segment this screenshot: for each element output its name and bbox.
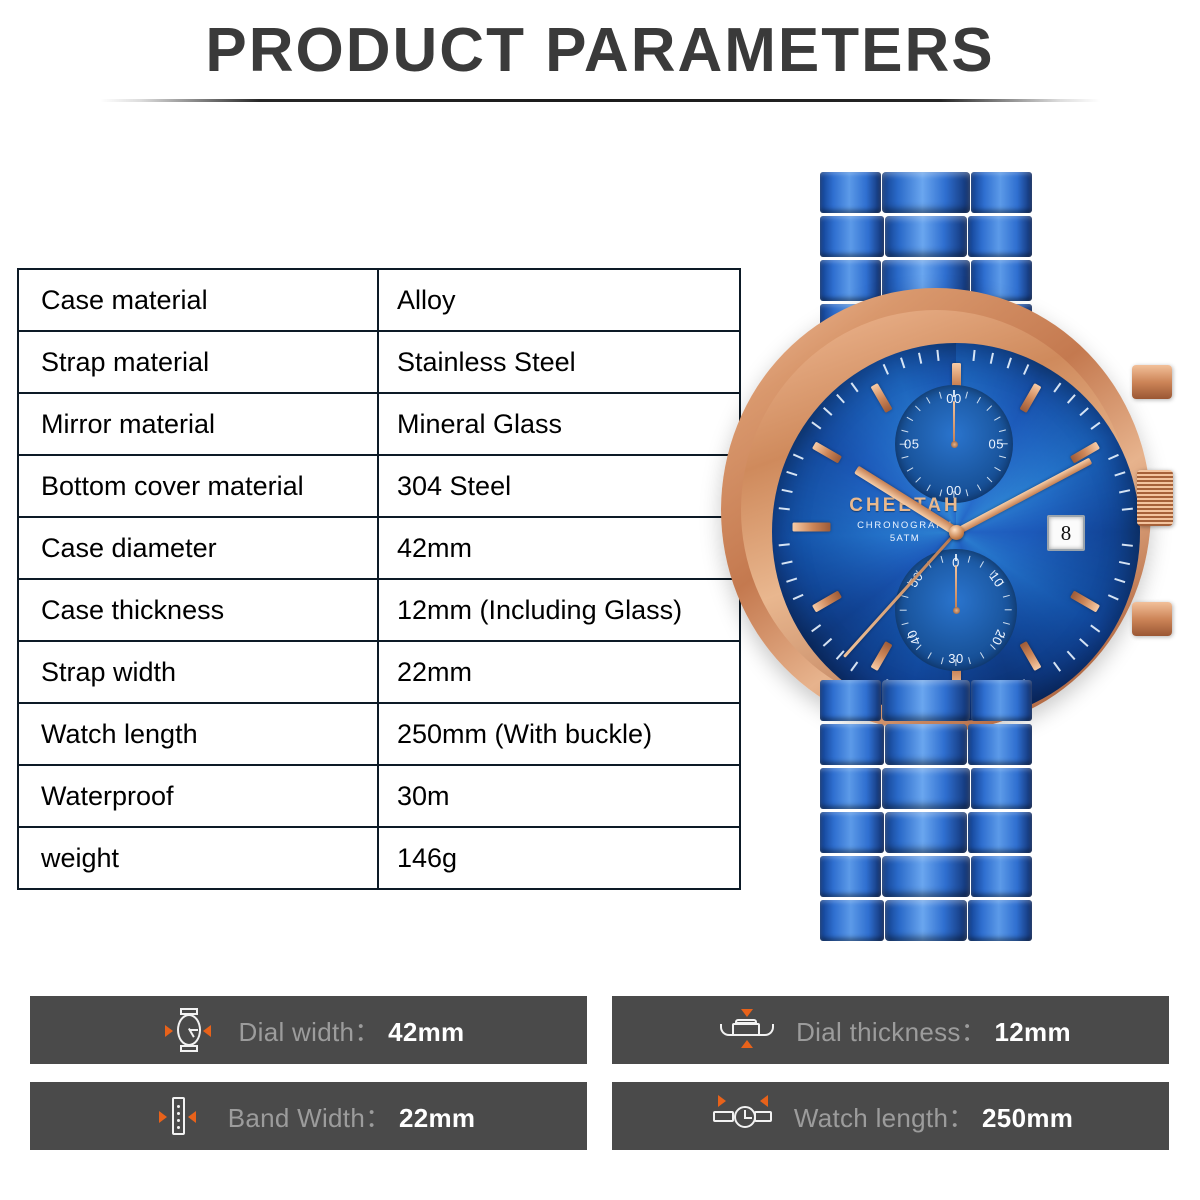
bracelet-center-link: [882, 680, 970, 721]
measure-arrow-down: [741, 1009, 753, 1017]
spec-label: Bottom cover material: [18, 455, 378, 517]
bracelet-outer-link: [820, 216, 884, 257]
bracelet-outer-link: [968, 900, 1032, 941]
bracelet-center-link: [882, 856, 970, 897]
bracelet-center-link: [882, 172, 970, 213]
hour-marker: [1020, 383, 1042, 413]
subdial-bottom-label-10: 10: [986, 569, 1007, 590]
hour-marker: [1070, 591, 1100, 613]
subdial-tick: [999, 455, 1006, 458]
subdial-tick: [915, 405, 921, 411]
bracelet-link: [820, 768, 1032, 809]
minute-tick: [1119, 489, 1130, 493]
measure-arrow-right: [165, 1025, 173, 1037]
bracelet-outer-link: [820, 812, 884, 853]
hand-mark-2: [744, 1110, 746, 1118]
watch-dial: 00 05 05 00 0 10 20 30 40 50: [772, 343, 1140, 721]
minute-tick: [1054, 662, 1062, 672]
subdial-tick: [941, 657, 944, 664]
hour-marker: [1020, 641, 1042, 671]
info-bar-text: Dial thickness： 12mm: [796, 1012, 1071, 1049]
minute-tick: [1067, 394, 1076, 403]
hour-marker: [871, 641, 893, 671]
spec-value: 12mm (Including Glass): [378, 579, 740, 641]
page-header: PRODUCT PARAMETERS: [0, 18, 1200, 83]
bracelet-link: [820, 724, 1032, 765]
minute-tick: [1067, 651, 1076, 660]
subdial-tick: [999, 429, 1006, 432]
measure-arrow-right: [718, 1095, 726, 1107]
measure-arrow-right: [159, 1111, 167, 1123]
minute-tick: [1080, 407, 1089, 416]
bracelet-center-link: [885, 900, 967, 941]
dimension-info-bars: Dial width： 42mmDial thickness： 12mmBand…: [30, 996, 1170, 1150]
minute-tick: [1007, 357, 1012, 368]
subdial-tick: [990, 644, 996, 650]
subdial-tick: [955, 554, 956, 561]
minute-tick: [918, 353, 922, 364]
strap-left: [720, 1024, 736, 1036]
subdial-tick: [1005, 609, 1012, 610]
watch-product-image: 00 05 05 00 0 10 20 30 40 50: [700, 150, 1200, 940]
subdial-bottom-hand: [955, 565, 958, 610]
band-hole: [177, 1119, 180, 1122]
subdial-tick: [968, 556, 971, 563]
spec-label: Case diameter: [18, 517, 378, 579]
table-row: Bottom cover material304 Steel: [18, 455, 740, 517]
glass-profile: [735, 1019, 757, 1024]
bracelet-lower: [820, 680, 1032, 930]
subdial-tick: [939, 392, 942, 399]
info-bar-value: 12mm: [995, 1017, 1071, 1047]
minute-tick: [786, 578, 797, 583]
watch-crown: [1137, 470, 1173, 526]
bracelet-outer-link: [971, 680, 1032, 721]
minute-tick: [1122, 544, 1133, 547]
minute-tick: [1115, 578, 1126, 583]
spec-label: Case material: [18, 269, 378, 331]
subdial-tick: [902, 429, 909, 432]
spec-value: Stainless Steel: [378, 331, 740, 393]
watch-side-icon: [708, 1093, 780, 1139]
info-bar-value: 250mm: [982, 1103, 1073, 1133]
spec-value: 146g: [378, 827, 740, 889]
info-bar: Band Width： 22mm: [30, 1082, 587, 1150]
subdial-tick: [902, 595, 909, 598]
subdial-tick: [902, 455, 909, 458]
info-bar-label: Dial width：: [239, 1017, 381, 1047]
subdial-tick: [987, 477, 993, 483]
info-bar-value: 42mm: [388, 1017, 464, 1047]
bracelet-outer-link: [971, 768, 1032, 809]
table-row: Case thickness12mm (Including Glass): [18, 579, 740, 641]
info-bar-label: Dial thickness：: [796, 1017, 987, 1047]
subdial-tick: [927, 652, 932, 659]
spec-value: 22mm: [378, 641, 740, 703]
minute-tick: [782, 489, 793, 493]
minute-tick: [1122, 508, 1133, 511]
subdial-tick: [907, 416, 914, 421]
bracelet-outer-link: [971, 856, 1032, 897]
spec-value: Alloy: [378, 269, 740, 331]
info-bar: Dial width： 42mm: [30, 996, 587, 1064]
table-row: Case materialAlloy: [18, 269, 740, 331]
strap-left: [713, 1111, 734, 1122]
minute-tick: [779, 508, 790, 511]
minute-tick: [779, 544, 790, 547]
bracelet-outer-link: [820, 768, 881, 809]
info-bar-text: Watch length： 250mm: [794, 1098, 1073, 1135]
subdial-top-pin: [951, 441, 958, 448]
spec-value: 30m: [378, 765, 740, 827]
info-bar-value: 22mm: [399, 1103, 475, 1133]
spec-value: 250mm (With buckle): [378, 703, 740, 765]
subdial-tick: [968, 657, 971, 664]
chronograph-pusher-bottom: [1132, 602, 1172, 636]
subdial-tick: [900, 609, 907, 610]
subdial-tick: [987, 405, 993, 411]
date-window: 8: [1047, 515, 1085, 551]
minute-tick: [937, 350, 940, 361]
page-title: PRODUCT PARAMETERS: [0, 18, 1200, 83]
title-divider: [100, 99, 1100, 102]
band-hole: [177, 1126, 180, 1129]
center-pin: [949, 525, 964, 540]
info-bar-text: Dial width： 42mm: [239, 1012, 465, 1049]
table-row: weight146g: [18, 827, 740, 889]
spec-label: Strap material: [18, 331, 378, 393]
bracelet-outer-link: [820, 680, 881, 721]
strap-right: [758, 1024, 774, 1036]
subdial-tick: [977, 397, 982, 404]
spec-label: Waterproof: [18, 765, 378, 827]
subdial-tick: [1003, 622, 1010, 625]
minute-tick: [1091, 625, 1101, 633]
bracelet-outer-link: [820, 856, 881, 897]
info-bar-label: Watch length：: [794, 1103, 975, 1133]
subdial-tick: [994, 467, 1001, 472]
minute-tick: [1108, 454, 1119, 460]
bracelet-outer-link: [820, 260, 881, 301]
subdial-tick: [1003, 595, 1010, 598]
hour-marker: [812, 442, 842, 464]
minute-tick: [851, 662, 859, 672]
bracelet-link: [820, 900, 1032, 941]
bracelet-center-link: [885, 216, 967, 257]
info-bar: Dial thickness： 12mm: [612, 996, 1169, 1064]
minute-tick: [1080, 638, 1089, 647]
info-bar: Watch length： 250mm: [612, 1082, 1169, 1150]
subdial-tick: [994, 416, 1001, 421]
spec-label: Case thickness: [18, 579, 378, 641]
subdial-tick: [980, 652, 985, 659]
minute-tick: [883, 364, 889, 375]
watch-band-icon: [142, 1093, 214, 1139]
bracelet-outer-link: [968, 216, 1032, 257]
specification-table: Case materialAlloyStrap materialStainles…: [17, 268, 741, 890]
minute-tick: [812, 422, 822, 430]
minute-tick: [823, 638, 832, 647]
bracelet-outer-link: [971, 172, 1032, 213]
table-row: Strap width22mm: [18, 641, 740, 703]
minute-tick: [1091, 422, 1101, 430]
spec-label: Strap width: [18, 641, 378, 703]
case-profile: [732, 1023, 760, 1036]
bracelet-center-link: [885, 812, 967, 853]
bracelet-link: [820, 216, 1032, 257]
spec-value: 304 Steel: [378, 455, 740, 517]
watch-front-icon: [153, 1007, 225, 1053]
subdial-tick: [902, 622, 909, 625]
minute-tick: [786, 471, 797, 476]
bracelet-link: [820, 856, 1032, 897]
subdial-tick: [907, 467, 914, 472]
bracelet-outer-link: [968, 812, 1032, 853]
info-bar-label: Band Width：: [228, 1103, 392, 1133]
hour-marker: [812, 591, 842, 613]
spec-label: Mirror material: [18, 393, 378, 455]
measure-arrow-up: [741, 1040, 753, 1048]
subdial-bottom: 0 10 20 30 40 50: [895, 549, 1017, 671]
watch-profile-icon: [710, 1007, 782, 1053]
minute-tick: [1023, 364, 1029, 375]
measure-arrow-left: [760, 1095, 768, 1107]
chronograph-pusher-top: [1132, 365, 1172, 399]
subdial-tick: [1001, 443, 1008, 444]
bracelet-outer-link: [820, 172, 881, 213]
bracelet-link: [820, 812, 1032, 853]
table-row: Waterproof30m: [18, 765, 740, 827]
minute-tick: [1054, 383, 1062, 393]
bracelet-outer-link: [820, 724, 884, 765]
minute-tick: [793, 454, 804, 460]
minute-tick: [823, 407, 832, 416]
hour-marker: [792, 523, 830, 532]
subdial-top: 00 05 05 00: [895, 385, 1013, 503]
hour-marker: [871, 383, 893, 413]
bracelet-outer-link: [820, 900, 884, 941]
spec-label: Watch length: [18, 703, 378, 765]
band-strip: [172, 1097, 185, 1135]
bracelet-center-link: [885, 724, 967, 765]
minute-tick: [782, 561, 793, 565]
measure-arrow-left: [203, 1025, 211, 1037]
minute-tick: [1115, 471, 1126, 476]
band-hole: [177, 1105, 180, 1108]
subdial-tick: [926, 484, 931, 491]
table-row: Mirror materialMineral Glass: [18, 393, 740, 455]
minute-tick: [1108, 594, 1119, 600]
info-bar-text: Band Width： 22mm: [228, 1098, 476, 1135]
minute-tick: [973, 350, 976, 361]
watch-case: 00 05 05 00 0 10 20 30 40 50: [721, 288, 1151, 732]
subdial-bottom-pin: [953, 607, 960, 614]
minute-tick: [851, 383, 859, 393]
minute-tick: [1119, 561, 1130, 565]
measure-arrow-left: [188, 1111, 196, 1123]
minute-tick: [812, 625, 822, 633]
subdial-tick: [977, 484, 982, 491]
spec-label: weight: [18, 827, 378, 889]
watch-bezel: 00 05 05 00 0 10 20 30 40 50: [741, 310, 1131, 710]
subdial-tick: [926, 397, 931, 404]
bracelet-link: [820, 680, 1032, 721]
subdial-tick: [900, 443, 907, 444]
subdial-tick: [980, 561, 985, 568]
bracelet-center-link: [882, 768, 970, 809]
subdial-tick: [953, 390, 954, 397]
subdial-tick: [941, 556, 944, 563]
bracelet-outer-link: [968, 724, 1032, 765]
subdial-tick: [966, 392, 969, 399]
product-parameters-page: PRODUCT PARAMETERS Case materialAlloyStr…: [0, 0, 1200, 1200]
bracelet-link: [820, 172, 1032, 213]
table-row: Watch length250mm (With buckle): [18, 703, 740, 765]
subdial-top-hand: [953, 401, 956, 444]
strap-right: [754, 1111, 772, 1122]
minute-tick: [900, 357, 905, 368]
lug-bottom: [180, 1045, 198, 1052]
band-hole: [177, 1112, 180, 1115]
minute-tick: [793, 594, 804, 600]
table-row: Strap materialStainless Steel: [18, 331, 740, 393]
table-row: Case diameter42mm: [18, 517, 740, 579]
minute-tick: [836, 394, 845, 403]
subdial-tick: [916, 644, 922, 650]
spec-value: 42mm: [378, 517, 740, 579]
subdial-tick: [915, 477, 921, 483]
spec-value: Mineral Glass: [378, 393, 740, 455]
minute-tick: [990, 353, 994, 364]
